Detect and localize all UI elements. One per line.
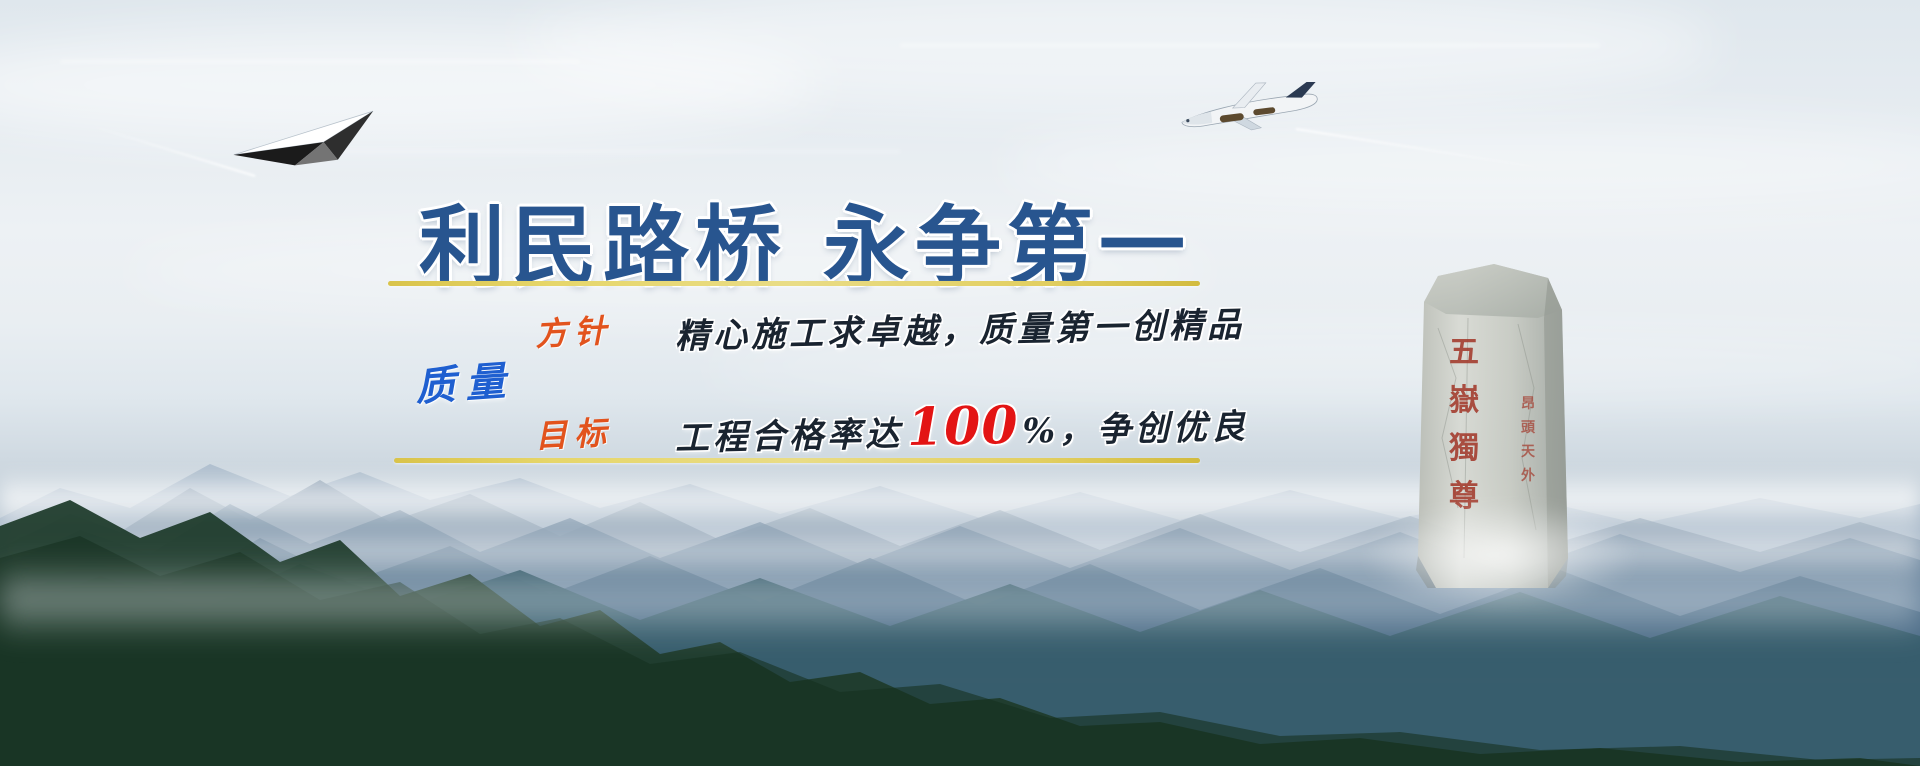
policy-row: 方针 精心施工求卓越，质量第一创精品	[535, 303, 1245, 352]
banner-content: 利民路桥 永争第一 质量 方针 精心施工求卓越，质量第一创精品 目标 工程合格率…	[0, 0, 1920, 766]
goal-slogan-prefix: 工程合格率达	[675, 414, 904, 459]
banner-stage: 五 嶽 獨 尊 昂 頭 天 外 利民路桥 永争第一 质量 方针 精心施工求卓越，…	[0, 0, 1920, 766]
goal-slogan: 工程合格率达100%，争创优良	[674, 390, 1249, 463]
policy-tag: 方针	[534, 303, 666, 356]
goal-slogan-suffix: %，争创优良	[1022, 407, 1249, 452]
policy-slogan: 精心施工求卓越，质量第一创精品	[675, 297, 1246, 358]
divider-top	[388, 281, 1200, 286]
goal-row: 目标 工程合格率达100%，争创优良	[535, 396, 1249, 457]
goal-percentage: 100	[902, 395, 1023, 458]
goal-tag: 目标	[534, 405, 666, 458]
